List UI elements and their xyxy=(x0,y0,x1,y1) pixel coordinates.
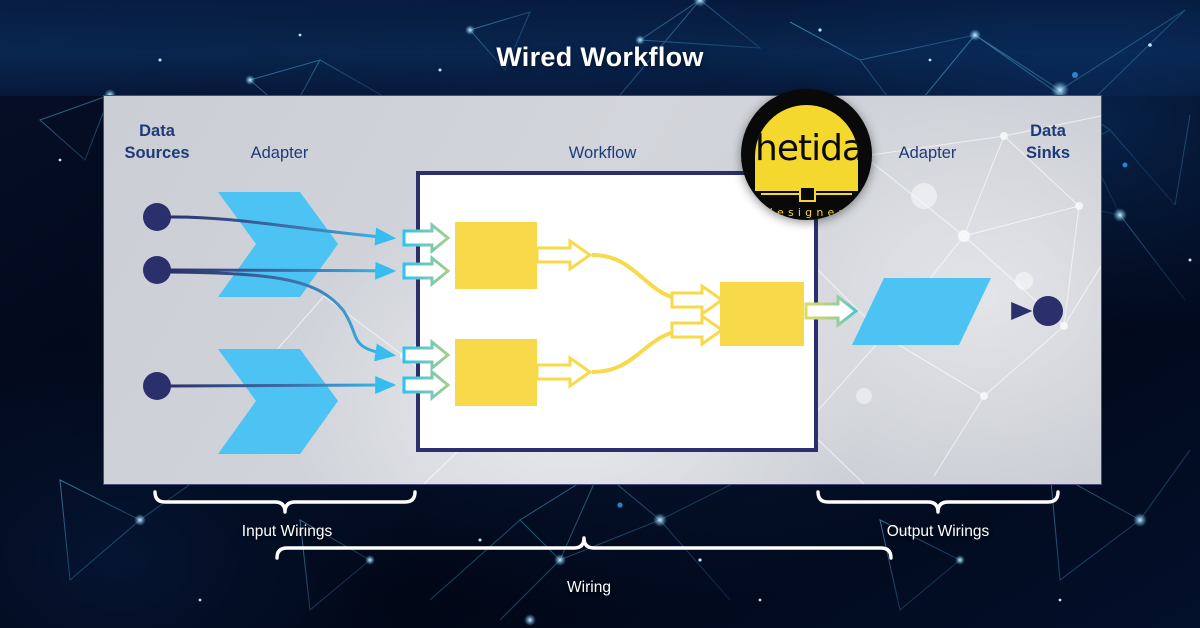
adapter-shape-left-top xyxy=(218,192,338,297)
workflow-node2-out-arrow xyxy=(537,358,590,386)
logo-dome: hetida xyxy=(755,105,858,191)
wire-source3-to-input4 xyxy=(168,385,392,386)
data-source-dot xyxy=(143,203,171,231)
label-input-wirings: Input Wirings xyxy=(187,523,387,541)
brace-input-wirings xyxy=(155,492,415,512)
workflow-nodes xyxy=(455,222,804,406)
wire-source2-to-input2 xyxy=(168,270,392,271)
data-source-dots xyxy=(143,203,171,400)
logo-subtitle: designer xyxy=(741,206,872,219)
logo-wordmark: hetida xyxy=(755,131,858,167)
adapter-shape-left-bottom xyxy=(218,349,338,454)
data-source-dot xyxy=(143,372,171,400)
workflow-node1-out-arrow xyxy=(537,241,590,269)
brace-output-wirings xyxy=(818,492,1058,512)
workflow-node xyxy=(720,282,804,346)
label-wiring: Wiring xyxy=(514,579,664,597)
data-sink-dot xyxy=(1033,296,1063,326)
workflow-node xyxy=(455,222,537,289)
data-source-dot xyxy=(143,256,171,284)
label-output-wirings: Output Wirings xyxy=(838,523,1038,541)
workflow-node3-in-arrow-bottom xyxy=(672,316,722,344)
workflow-node3-in-arrow-top xyxy=(672,286,722,314)
diagram-canvas: Wired Workflow xyxy=(0,0,1200,628)
workflow-node xyxy=(455,339,537,406)
logo-dot-icon xyxy=(817,101,822,106)
hetida-designer-logo: hetida designer xyxy=(741,89,872,220)
workflow-input-arrow xyxy=(404,258,448,284)
logo-square-icon xyxy=(799,186,816,202)
workflow-input-arrow xyxy=(404,225,448,251)
brace-wiring xyxy=(277,538,891,558)
workflow-output-arrow xyxy=(806,297,856,325)
workflow-input-arrow xyxy=(404,372,448,398)
workflow-input-arrow xyxy=(404,342,448,368)
